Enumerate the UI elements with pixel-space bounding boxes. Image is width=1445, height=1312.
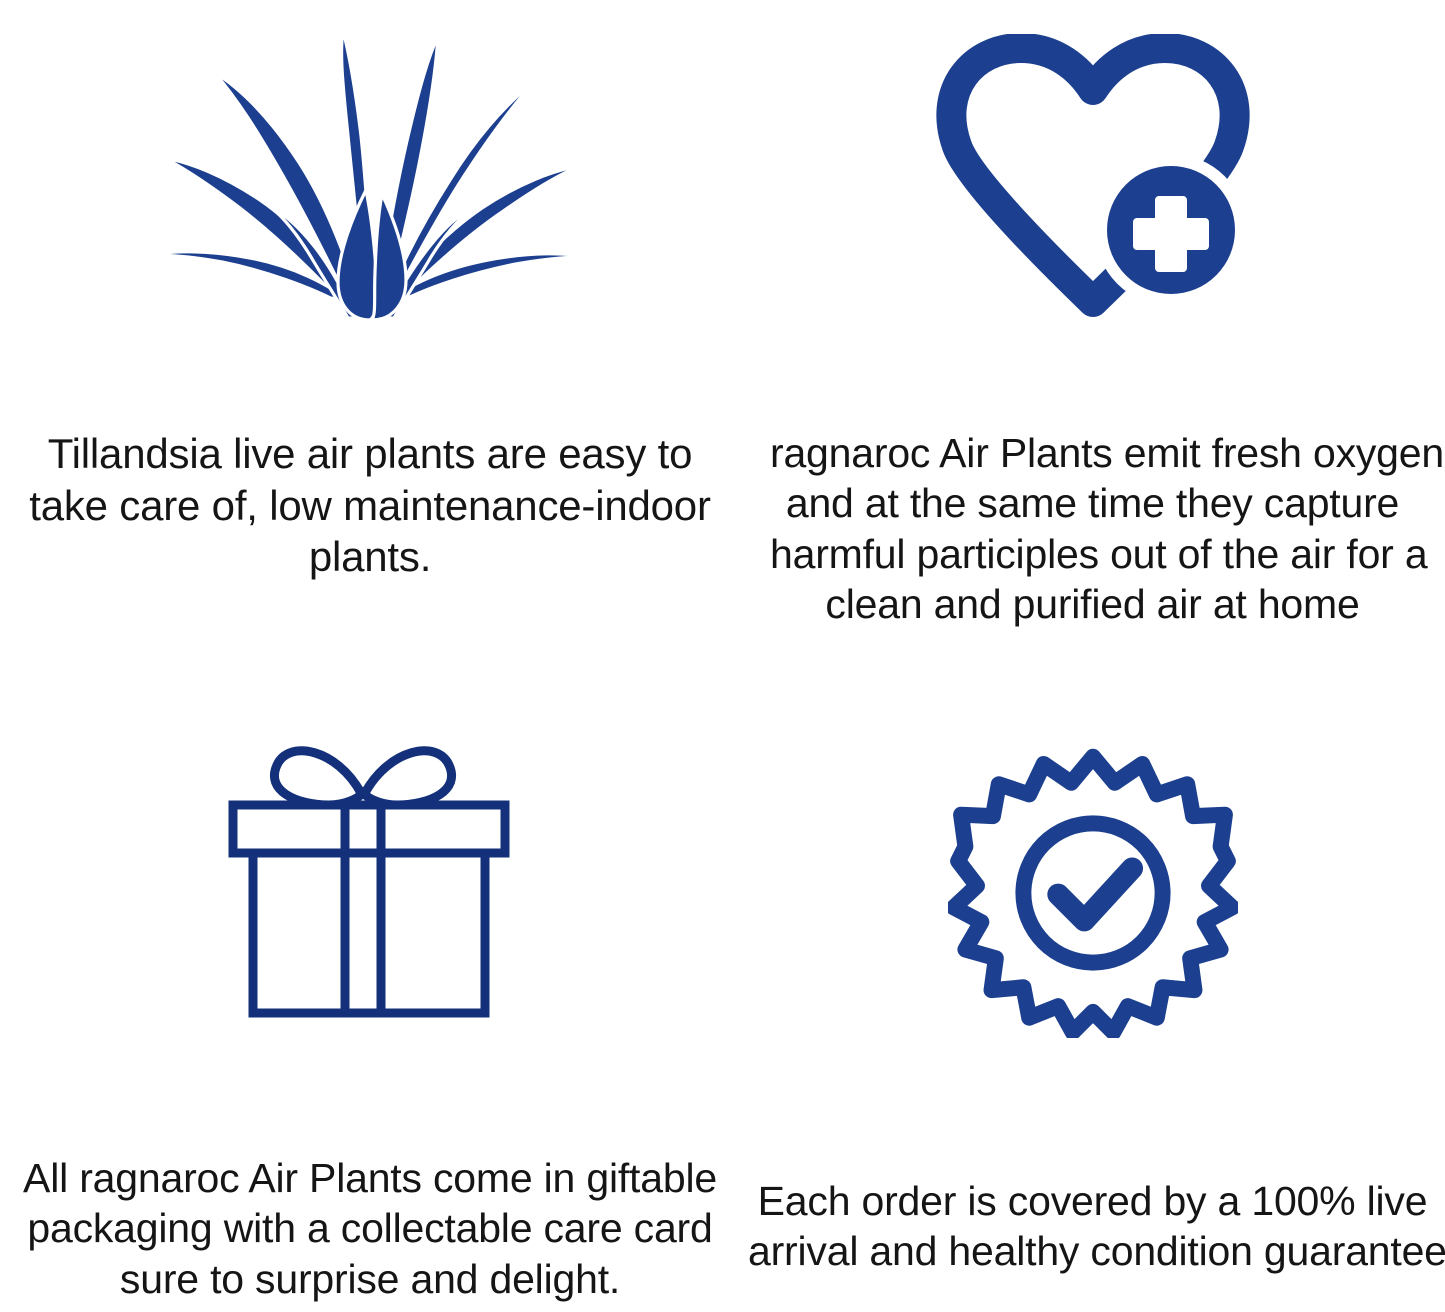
caption-line: harmful participles out of the air for a (770, 529, 1415, 579)
caption-line: packaging with a collectable care card (22, 1203, 718, 1253)
feature-cell-air-purifying: ragnaroc Air Plants emit fresh oxygen an… (740, 0, 1445, 656)
heart-plus-icon (740, 0, 1445, 330)
caption-line: arrival and healthy condition guarantee. (748, 1226, 1437, 1276)
feature-caption-easy-care: Tillandsia live air plants are easy to t… (0, 428, 740, 583)
gift-lid (233, 805, 505, 853)
feature-cell-giftable-packaging: All ragnaroc Air Plants come in giftable… (0, 656, 740, 1312)
guarantee-seal-icon (740, 656, 1445, 1001)
caption-line: and at the same time they capture (770, 478, 1415, 528)
caption-line: sure to surprise and delight. (22, 1254, 718, 1304)
caption-line: All ragnaroc Air Plants come in giftable (22, 1153, 718, 1203)
seal-starburst (953, 756, 1231, 1031)
caption-line: ragnaroc Air Plants emit fresh oxygen (770, 428, 1415, 478)
feature-caption-giftable-packaging: All ragnaroc Air Plants come in giftable… (0, 1153, 740, 1304)
gift-body (253, 853, 485, 1013)
caption-line: Each order is covered by a 100% live (748, 1176, 1437, 1226)
gift-box-icon (0, 656, 740, 1001)
bow-loop-left (274, 750, 361, 804)
feature-caption-air-purifying: ragnaroc Air Plants emit fresh oxygen an… (740, 428, 1445, 630)
feature-grid: Tillandsia live air plants are easy to t… (0, 0, 1445, 1312)
seal-circle (1023, 823, 1162, 962)
feature-caption-live-arrival-guarantee: Each order is covered by a 100% live arr… (740, 1176, 1445, 1277)
air-plant-icon (0, 0, 740, 330)
check-icon (1058, 868, 1132, 920)
caption-line: clean and purified air at home (770, 579, 1415, 629)
feature-cell-easy-care: Tillandsia live air plants are easy to t… (0, 0, 740, 656)
bow-loop-right (365, 750, 452, 804)
feature-cell-live-arrival-guarantee: Each order is covered by a 100% live arr… (740, 656, 1445, 1312)
